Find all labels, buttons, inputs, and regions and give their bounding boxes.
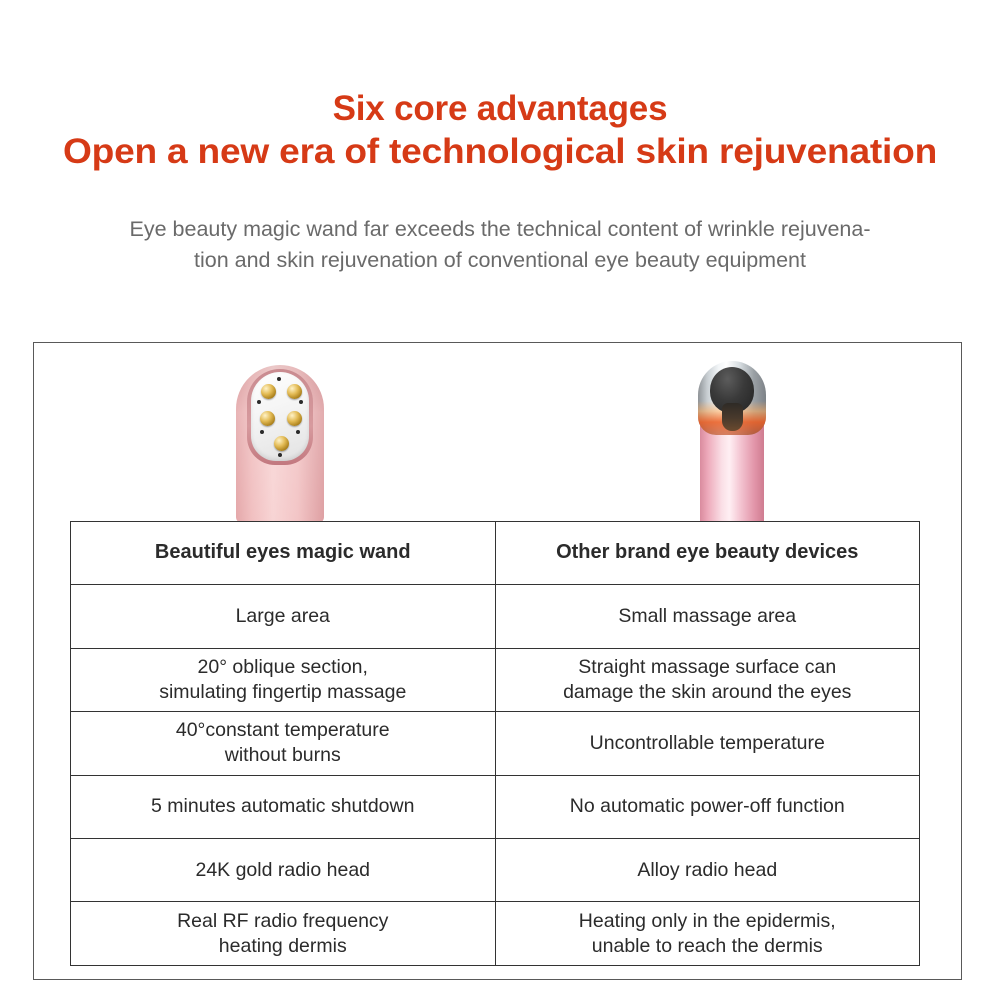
cell-line: 20° oblique section, bbox=[79, 655, 487, 680]
cell-line: Straight massage surface can bbox=[504, 655, 912, 680]
cell-line: Heating only in the epidermis, bbox=[504, 909, 912, 934]
table-row: 24K gold radio head Alloy radio head bbox=[71, 838, 920, 901]
table-header-row: Beautiful eyes magic wand Other brand ey… bbox=[71, 522, 920, 585]
headline-line-2: Open a new era of technological skin rej… bbox=[0, 131, 1000, 174]
cell-theirs: Heating only in the epidermis, unable to… bbox=[495, 902, 920, 965]
subtitle-line-2: tion and skin rejuvenation of convention… bbox=[50, 245, 950, 276]
cell-line: damage the skin around the eyes bbox=[504, 680, 912, 705]
cell-line: 5 minutes automatic shutdown bbox=[79, 794, 487, 819]
cell-ours: Real RF radio frequency heating dermis bbox=[71, 902, 496, 965]
gold-electrode-icon bbox=[274, 436, 289, 451]
gold-electrode-icon bbox=[261, 384, 276, 399]
massage-element-stem bbox=[722, 403, 743, 431]
table-row: 5 minutes automatic shutdown No automati… bbox=[71, 775, 920, 838]
column-header-ours: Beautiful eyes magic wand bbox=[71, 522, 496, 585]
cell-ours: Large area bbox=[71, 585, 496, 648]
cell-line: unable to reach the dermis bbox=[504, 934, 912, 959]
subtitle-line-1: Eye beauty magic wand far exceeds the te… bbox=[50, 214, 950, 245]
cell-theirs: Small massage area bbox=[495, 585, 920, 648]
cell-line: 40°constant temperature bbox=[79, 718, 487, 743]
led-dot-icon bbox=[257, 400, 261, 404]
led-dot-icon bbox=[299, 400, 303, 404]
cell-line: Real RF radio frequency bbox=[79, 909, 487, 934]
headline-line-1: Six core advantages bbox=[0, 88, 1000, 131]
table-row: 40°constant temperature without burns Un… bbox=[71, 712, 920, 775]
product-image-other-brand-device bbox=[672, 355, 792, 522]
cell-line: No automatic power-off function bbox=[504, 794, 912, 819]
table-row: 20° oblique section, simulating fingerti… bbox=[71, 648, 920, 711]
gold-electrode-icon bbox=[287, 384, 302, 399]
table-row: Large area Small massage area bbox=[71, 585, 920, 648]
cell-theirs: Uncontrollable temperature bbox=[495, 712, 920, 775]
cell-ours: 5 minutes automatic shutdown bbox=[71, 775, 496, 838]
cell-ours: 40°constant temperature without burns bbox=[71, 712, 496, 775]
cell-ours: 24K gold radio head bbox=[71, 838, 496, 901]
gold-electrode-icon bbox=[260, 411, 275, 426]
cell-ours: 20° oblique section, simulating fingerti… bbox=[71, 648, 496, 711]
cell-line: without burns bbox=[79, 743, 487, 768]
led-dot-icon bbox=[277, 377, 281, 381]
cell-line: Large area bbox=[79, 604, 487, 629]
gold-electrode-icon bbox=[287, 411, 302, 426]
page-subtitle: Eye beauty magic wand far exceeds the te… bbox=[50, 214, 950, 276]
page-title: Six core advantages Open a new era of te… bbox=[0, 88, 1000, 173]
cell-line: Small massage area bbox=[504, 604, 912, 629]
led-dot-icon bbox=[278, 453, 282, 457]
cell-theirs: No automatic power-off function bbox=[495, 775, 920, 838]
product-image-band bbox=[34, 343, 961, 522]
cell-line: 24K gold radio head bbox=[79, 858, 487, 883]
comparison-table: Beautiful eyes magic wand Other brand ey… bbox=[70, 521, 920, 966]
column-header-theirs: Other brand eye beauty devices bbox=[495, 522, 920, 585]
cell-line: Alloy radio head bbox=[504, 858, 912, 883]
table-row: Real RF radio frequency heating dermis H… bbox=[71, 902, 920, 965]
product-image-beautiful-eyes-magic-wand bbox=[214, 353, 344, 522]
other-wand-chrome-head bbox=[698, 361, 766, 435]
cell-line: simulating fingertip massage bbox=[79, 680, 487, 705]
led-dot-icon bbox=[296, 430, 300, 434]
comparison-table-body: Beautiful eyes magic wand Other brand ey… bbox=[71, 522, 920, 966]
cell-line: Uncontrollable temperature bbox=[504, 731, 912, 756]
cell-theirs: Straight massage surface can damage the … bbox=[495, 648, 920, 711]
led-dot-icon bbox=[260, 430, 264, 434]
cell-line: heating dermis bbox=[79, 934, 487, 959]
cell-theirs: Alloy radio head bbox=[495, 838, 920, 901]
